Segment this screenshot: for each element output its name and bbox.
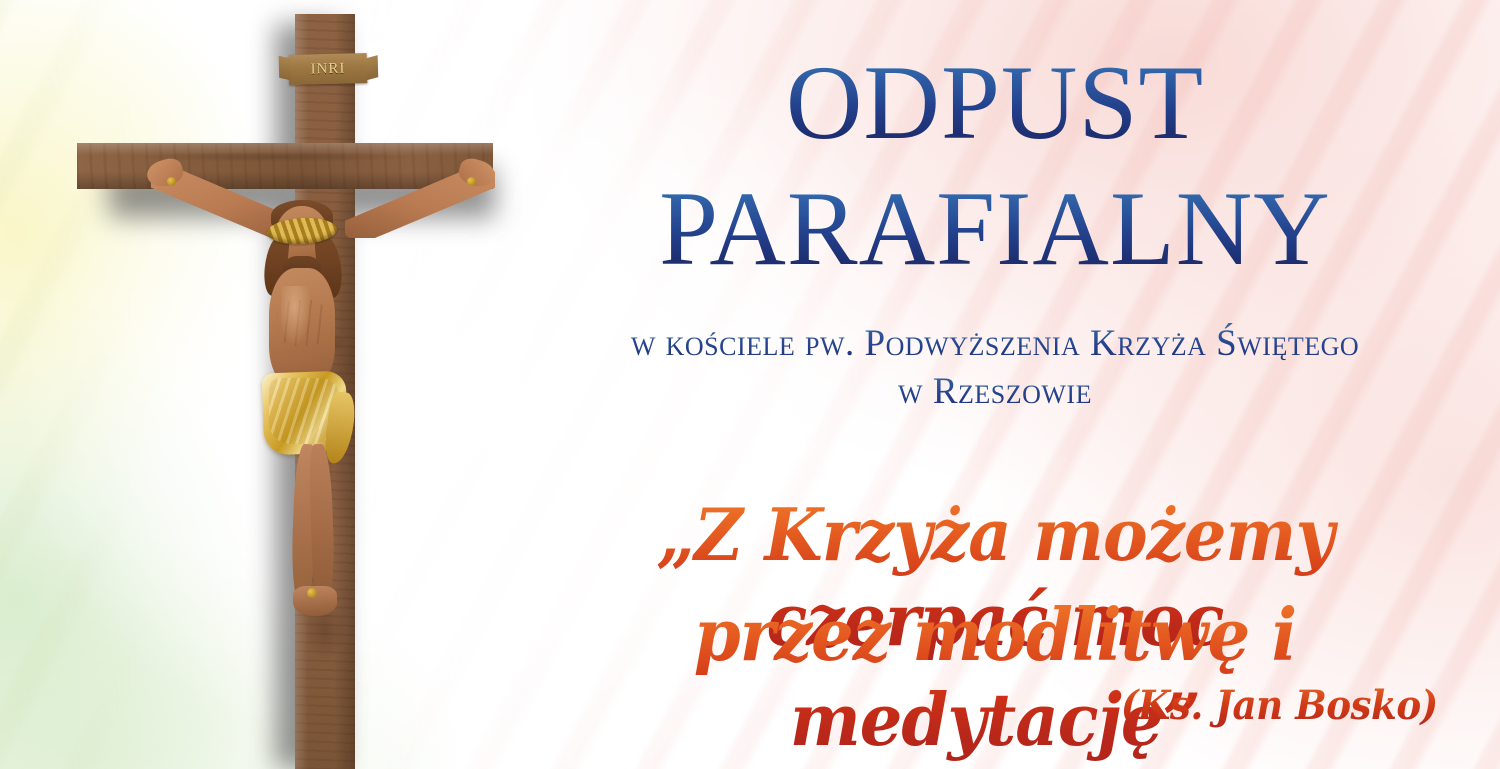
poster-canvas: INRI ODPUST — [0, 0, 1500, 769]
right-nail — [467, 177, 476, 186]
left-nail — [167, 177, 176, 186]
corpus-figure — [55, 0, 485, 769]
text-content: ODPUST PARAFIALNY w kościele pw. Podwyżs… — [490, 0, 1500, 769]
crucifix-image: INRI — [55, 0, 485, 769]
poster-subtitle-line-1: w kościele pw. Podwyższenia Krzyża Święt… — [490, 322, 1500, 365]
poster-subtitle-line-2: w Rzeszowie — [490, 370, 1500, 413]
poster-title-line-2: PARAFIALNY — [490, 178, 1500, 280]
quote-line-2: przez modlitwę i medytację” — [525, 592, 1464, 762]
poster-title-line-1: ODPUST — [490, 52, 1500, 154]
foot-nail — [307, 588, 317, 598]
torso-highlight — [281, 286, 311, 346]
right-leg — [308, 444, 336, 605]
quote-attribution: (Ks. Jan Bosko) — [1121, 682, 1438, 729]
